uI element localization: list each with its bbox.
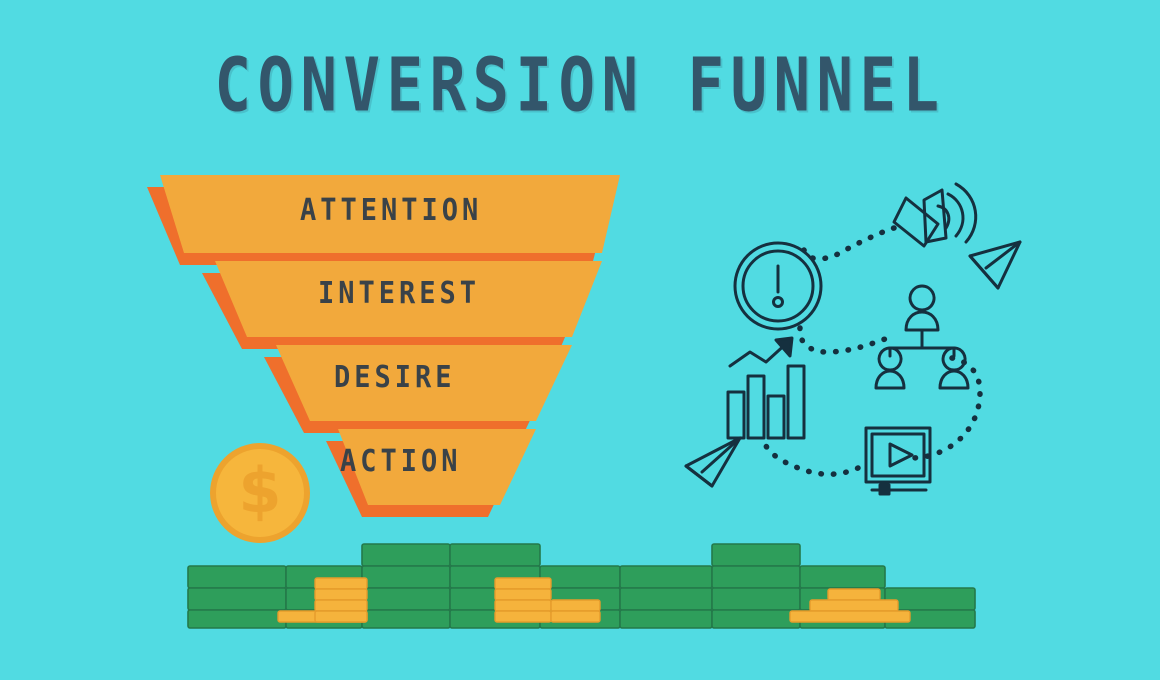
bar-chart-icon xyxy=(728,338,804,438)
video-player-icon xyxy=(866,428,930,494)
alert-circle-icon xyxy=(735,243,821,329)
paper-plane-icon xyxy=(970,242,1020,288)
money-stacks xyxy=(0,520,1160,630)
network-users-icon xyxy=(876,286,968,388)
megaphone-icon xyxy=(894,184,976,246)
funnel-stage-action-label: ACTION xyxy=(340,444,462,479)
marketing-icon-cluster xyxy=(680,180,1050,510)
conversion-funnel-infographic: CONVERSION FUNNEL ATTENTION INTEREST xyxy=(0,0,1160,680)
paper-plane-icon-2 xyxy=(686,438,740,486)
page-title: CONVERSION FUNNEL xyxy=(46,42,1113,128)
